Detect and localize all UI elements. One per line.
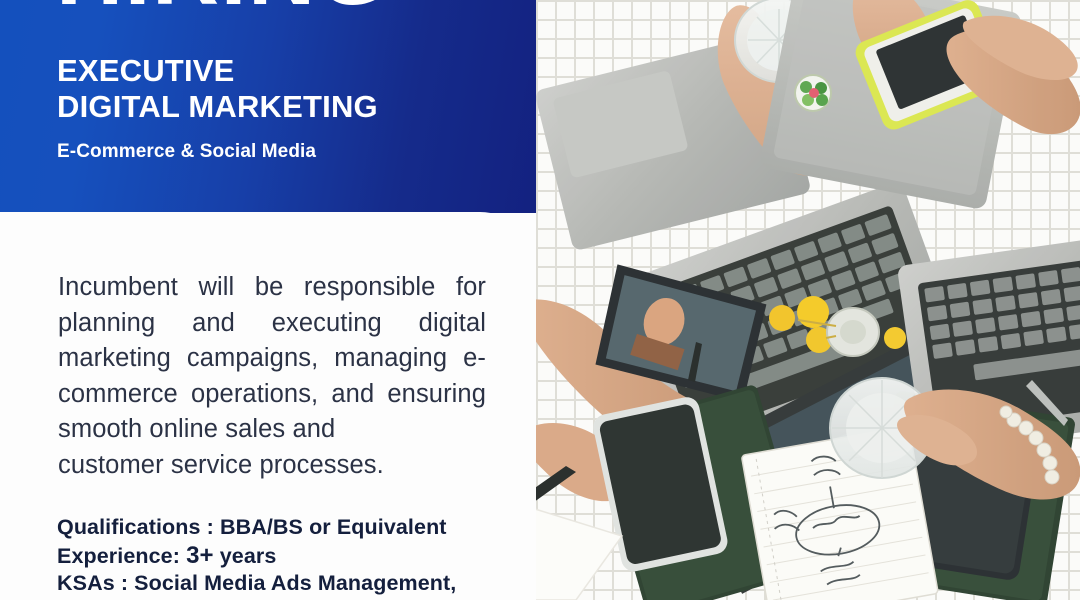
experience-suffix: years xyxy=(214,544,277,568)
left-content-column: HIRING EXECUTIVE DIGITAL MARKETING E-Com… xyxy=(0,0,540,600)
job-role-line-1: EXECUTIVE xyxy=(57,52,235,89)
desk-workspace-photo xyxy=(536,0,1080,600)
job-description-text: Incumbent will be responsible for planni… xyxy=(58,273,486,443)
experience-label: Experience: xyxy=(57,544,186,568)
ksas-line: KSAs : Social Media Ads Management, xyxy=(57,570,527,598)
qualifications-line: Qualifications : BBA/BS or Equivalent xyxy=(57,514,527,542)
job-role-line-2: DIGITAL MARKETING xyxy=(57,88,378,125)
hiring-headline-clipped: HIRING xyxy=(56,0,516,18)
job-description-paragraph: Incumbent will be responsible for planni… xyxy=(58,270,486,483)
experience-value: 3+ xyxy=(186,542,214,569)
experience-line: Experience: 3+ years xyxy=(57,542,527,571)
photo-illustration xyxy=(536,0,1080,600)
job-details-block: Qualifications : BBA/BS or Equivalent Ex… xyxy=(57,514,527,598)
job-description-last-line: customer service processes. xyxy=(58,448,486,484)
hiring-headline-text: HIRING xyxy=(56,0,516,16)
job-subtitle: E-Commerce & Social Media xyxy=(57,140,316,164)
job-hiring-poster: HIRING EXECUTIVE DIGITAL MARKETING E-Com… xyxy=(0,0,1080,600)
